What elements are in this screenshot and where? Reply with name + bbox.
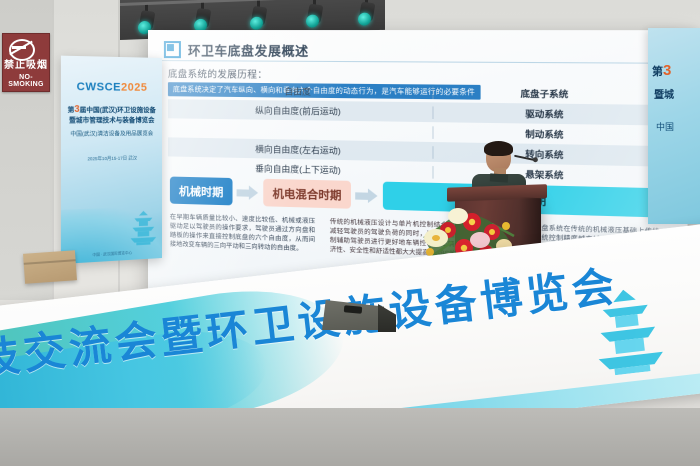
no-smoking-sign: 禁止吸烟 NO-SMOKING [2, 33, 50, 92]
slide-header: 环卫车底盘发展概述 [164, 40, 309, 60]
right-edition-number: 3 [663, 62, 671, 79]
event-logo: CWSCE2025 [61, 81, 162, 94]
table-cell-dof [168, 128, 433, 132]
event-title-line2: 暨城市管理技术与装备博览会 [66, 116, 157, 126]
table-cell-subsystem: 悬架系统 [433, 166, 658, 184]
monitor-face [322, 300, 384, 330]
cardboard-boxes [23, 250, 77, 284]
yellow-crane-tower-icon [131, 210, 157, 245]
slide-header-divider [162, 60, 669, 64]
event-date: 2025年10月15-17日 武汉 [66, 154, 157, 163]
table-cell-subsystem: 驱动系统 [433, 106, 658, 122]
bullet-square-icon [164, 41, 181, 58]
dof-subsystem-table: 自由度 底盘子系统 纵向自由度(前后运动) 驱动系统 制动系统 横向自由度(左右… [168, 80, 658, 187]
right-banner-line2: 暨城 [654, 86, 674, 101]
floor-foreground [0, 408, 700, 466]
stage-light-fixture [248, 0, 270, 27]
timeline-stage-electromechanical: 机电混合时期 [263, 179, 351, 209]
conference-stage-photo: 禁止吸烟 NO-SMOKING 环卫车底盘发展概述 底盘系统的发展历程： 底盘系… [0, 0, 700, 466]
speaker-collar [490, 173, 509, 182]
description-mechanical: 在早期车辆质量比较小、速度比较低、机械或液压驱动足以驾驶员的操作要求，驾驶员通过… [170, 213, 315, 264]
stage-light-fixture [356, 0, 378, 23]
title-prefix: 第 [68, 107, 75, 114]
no-smoking-label-en: NO-SMOKING [3, 74, 49, 88]
slide-subtitle: 底盘系统的发展历程： [168, 66, 267, 81]
stage-wedge-monitor [322, 294, 396, 332]
title-suffix: 届中国(武汉)环卫设施设备 [80, 107, 156, 114]
backdrop-banner-right: 第3 暨城 中国 [648, 28, 700, 224]
table-header-dof: 自由度 [168, 84, 433, 99]
slide-title: 环卫车底盘发展概述 [188, 40, 309, 60]
event-logo-year: 2025 [121, 81, 147, 93]
table-cell-dof: 横向自由度(左右运动) [168, 141, 433, 158]
stage-light-fixture [192, 2, 214, 29]
event-subtitle: 中国(武汉)清洁设备及用品展览会 [66, 130, 157, 140]
table-cell-dof: 纵向自由度(前后运动) [168, 103, 433, 119]
table-cell-subsystem: 制动系统 [433, 126, 658, 142]
table-cell-dof: 垂向自由度(上下运动) [168, 160, 433, 178]
right-banner-line3: 中国 [656, 120, 674, 133]
event-logo-text: CWSCE [77, 81, 121, 94]
stage-light-fixture [136, 5, 158, 32]
speaker-hair [484, 141, 513, 156]
monitor-side [378, 304, 396, 332]
monitor-grill [344, 305, 363, 314]
table-cell-subsystem: 转向系统 [433, 146, 658, 163]
no-smoking-label-cn: 禁止吸烟 [4, 60, 48, 72]
backdrop-banner-left: CWSCE2025 第3届中国(武汉)环卫设施设备 暨城市管理技术与装备博览会 … [61, 56, 162, 264]
arrow-right-icon [237, 185, 260, 200]
event-title-line1: 第3届中国(武汉)环卫设施设备 暨城市管理技术与装备博览会 [66, 104, 157, 127]
right-title-prefix: 第 [652, 66, 663, 78]
yellow-crane-tower-icon [584, 285, 671, 377]
arrow-right-icon [355, 188, 378, 203]
table-header-subsystem: 底盘子系统 [433, 86, 658, 101]
stage-light-fixture [304, 0, 326, 25]
timeline-stage-mechanical: 机械时期 [170, 177, 233, 206]
right-banner-line1: 第3 [652, 62, 671, 79]
